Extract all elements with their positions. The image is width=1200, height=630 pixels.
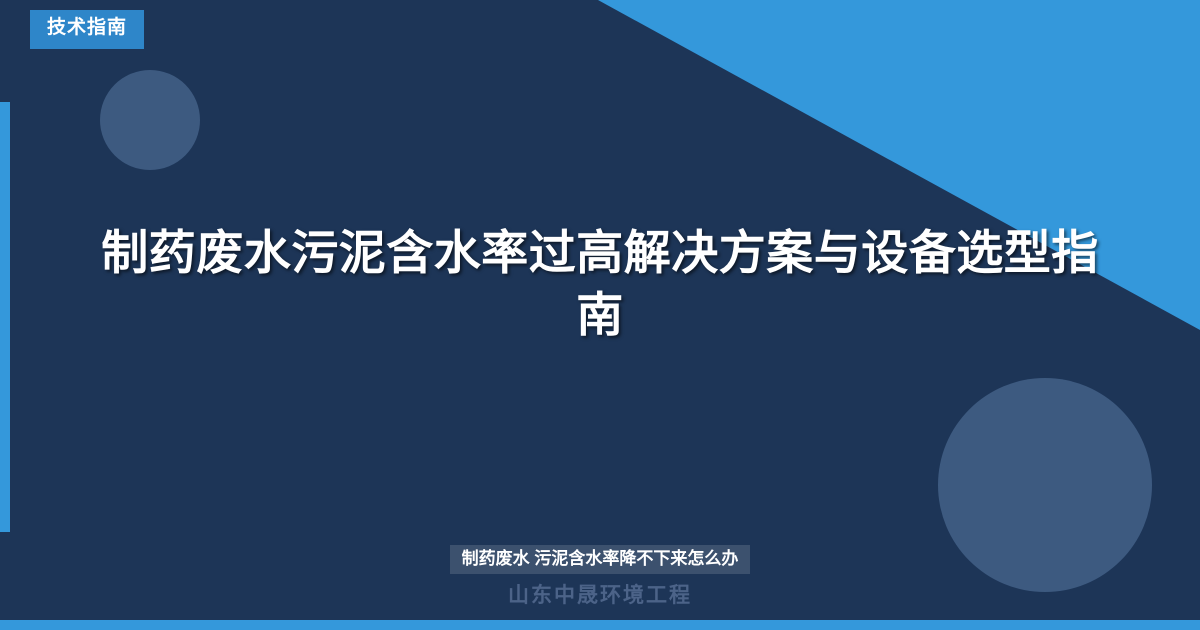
- category-badge: 技术指南: [30, 10, 144, 49]
- bottom-accent-bar: [0, 620, 1200, 630]
- footer-topic-tag: 制药废水 污泥含水率降不下来怎么办: [450, 545, 751, 574]
- page-title: 制药废水污泥含水率过高解决方案与设备选型指南: [90, 222, 1110, 346]
- footer-block: 制药废水 污泥含水率降不下来怎么办 山东中晟环境工程: [0, 545, 1200, 608]
- poster-canvas: 技术指南 制药废水污泥含水率过高解决方案与设备选型指南 制药废水 污泥含水率降不…: [0, 0, 1200, 630]
- brand-watermark: 山东中晟环境工程: [0, 583, 1200, 608]
- left-accent-bar: [0, 102, 10, 532]
- decorative-circle-top-left: [100, 70, 200, 170]
- title-block: 制药废水污泥含水率过高解决方案与设备选型指南: [90, 222, 1110, 346]
